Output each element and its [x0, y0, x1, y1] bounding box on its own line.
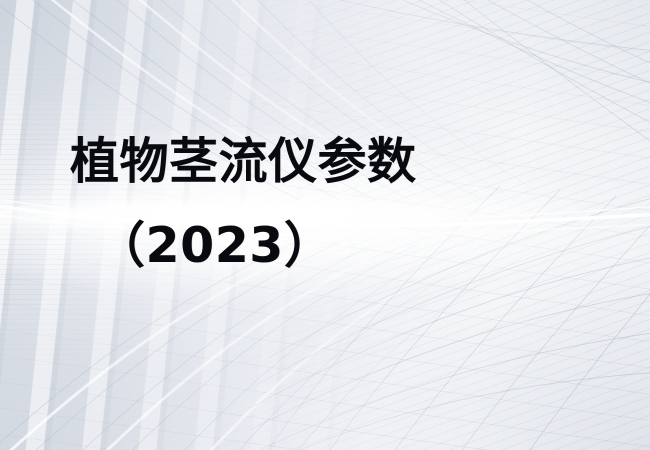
slide-title-primary: 植物茎流仪参数	[70, 134, 417, 191]
slide-title-year: （2023）	[96, 218, 333, 275]
title-slide: 植物茎流仪参数 （2023）	[0, 0, 650, 450]
title-text-block: 植物茎流仪参数 （2023）	[0, 0, 650, 450]
